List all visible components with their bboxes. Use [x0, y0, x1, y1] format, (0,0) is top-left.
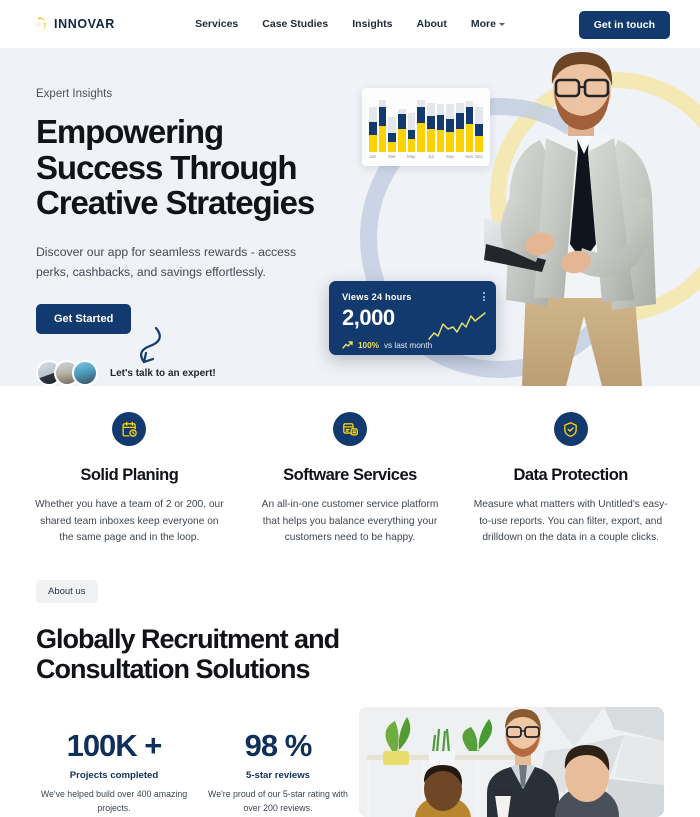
brand-name: INNOVAR — [54, 17, 115, 31]
nav-link-about-label: About — [417, 18, 447, 30]
bar-column — [379, 94, 387, 152]
expert-row: Let's talk to an expert! — [36, 360, 216, 386]
hero-copy: Expert Insights Empowering Success Throu… — [36, 88, 366, 334]
bar-segment — [456, 129, 464, 152]
nav-link-case-studies[interactable]: Case Studies — [262, 18, 328, 30]
bar-column — [417, 94, 425, 152]
trend-up-icon — [342, 336, 353, 354]
bar-segment — [446, 132, 454, 152]
bar-segment — [398, 114, 406, 129]
views-stat-card: Views 24 hours 2,000 100% vs last month — [329, 281, 496, 355]
innovar-swirl-logo-icon — [30, 16, 47, 33]
feature-card-software-services: Software Services An all-in-one customer… — [243, 412, 458, 566]
sparkline-chart — [428, 311, 486, 346]
feature-card-solid-planing: Solid Planing Whether you have a team of… — [22, 412, 237, 566]
bar-segment — [379, 100, 387, 107]
bar-chart-tick-label — [456, 154, 464, 159]
about-title-line2: Consultation Solutions — [36, 654, 309, 684]
bar-chart-tick-label: Dec — [475, 154, 483, 159]
bar-segment — [379, 126, 387, 152]
bar-column — [398, 94, 406, 152]
bar-chart-tick-label — [379, 154, 387, 159]
stat-description: We've helped build over 400 amazing proj… — [36, 788, 192, 815]
stat-description: We're proud of our 5-star rating with ov… — [200, 788, 356, 815]
bar-segment — [475, 107, 483, 124]
bar-chart-tick-label: Nov — [465, 154, 473, 159]
about-us-chip: About us — [36, 580, 98, 603]
bar-column — [456, 94, 464, 152]
hero-title-line2: Success Through — [36, 149, 296, 186]
bar-segment — [427, 116, 435, 129]
hero-title-line1: Empowering — [36, 113, 223, 150]
bar-column — [437, 94, 445, 152]
bar-segment — [388, 133, 396, 141]
bar-segment — [466, 107, 474, 124]
team-office-photo — [359, 707, 664, 817]
stat-number: 100K + — [36, 728, 192, 764]
bar-segment — [408, 130, 416, 139]
bar-segment — [379, 107, 387, 126]
get-in-touch-button[interactable]: Get in touch — [579, 11, 670, 39]
bar-chart-tick-label — [417, 154, 425, 159]
bar-segment — [417, 107, 425, 123]
nav-link-insights-label: Insights — [352, 18, 392, 30]
feature-title: Solid Planing — [32, 466, 227, 485]
bar-segment — [437, 104, 445, 116]
stat-label: Projects completed — [36, 770, 192, 781]
stats-section: 100K + Projects completed We've helped b… — [36, 728, 356, 815]
bar-column — [466, 94, 474, 152]
stat-label: 5-star reviews — [200, 770, 356, 781]
bar-chart-tick-label: Jan — [369, 154, 377, 159]
hero-section: Expert Insights Empowering Success Throu… — [0, 48, 700, 386]
nav-link-services-label: Services — [195, 18, 238, 30]
bar-chart-plot — [367, 94, 485, 152]
bar-segment — [475, 124, 483, 136]
feature-description: Measure what matters with Untitled's eas… — [473, 497, 668, 547]
bar-column — [427, 94, 435, 152]
bar-column — [475, 94, 483, 152]
shield-check-icon — [554, 412, 588, 446]
hero-businessman-photo — [484, 48, 684, 386]
kebab-menu-icon[interactable] — [483, 292, 485, 301]
bar-segment — [369, 135, 377, 152]
feature-title: Software Services — [253, 466, 448, 485]
bar-segment — [417, 100, 425, 107]
nav-link-more[interactable]: More — [471, 18, 505, 30]
bar-segment — [369, 107, 377, 122]
bar-segment — [408, 113, 416, 130]
nav-link-more-label: More — [471, 18, 496, 30]
features-section: Solid Planing Whether you have a team of… — [0, 386, 700, 566]
hero-bar-chart-card: JanMarMayJulSepNovDec — [362, 88, 490, 166]
bar-column — [388, 94, 396, 152]
bar-segment — [456, 103, 464, 112]
about-title: Globally Recruitment and Consultation So… — [36, 624, 666, 684]
feature-description: An all-in-one customer service platform … — [253, 497, 448, 547]
brand-logo[interactable]: INNOVAR — [30, 16, 115, 33]
about-section: About us Globally Recruitment and Consul… — [36, 580, 666, 684]
bar-segment — [408, 139, 416, 152]
bar-segment — [388, 142, 396, 152]
bar-segment — [427, 103, 435, 116]
bar-segment — [417, 123, 425, 152]
landing-page: INNOVAR Services Case Studies Insights A… — [0, 0, 700, 817]
bar-segment — [427, 129, 435, 152]
views-card-change: 100% — [358, 341, 379, 350]
views-card-change-note: vs last month — [384, 341, 432, 350]
bar-segment — [388, 117, 396, 133]
bar-chart-tick-label: Jul — [427, 154, 435, 159]
bar-chart-tick-label: Mar — [388, 154, 396, 159]
chevron-down-icon — [499, 23, 505, 26]
bar-column — [446, 94, 454, 152]
bar-segment — [446, 104, 454, 119]
nav-link-case-studies-label: Case Studies — [262, 18, 328, 30]
bar-column — [369, 94, 377, 152]
stat-projects-completed: 100K + Projects completed We've helped b… — [36, 728, 192, 815]
bar-chart-tick-label: May — [407, 154, 415, 159]
bar-segment — [398, 129, 406, 152]
bar-segment — [446, 119, 454, 132]
bar-segment — [466, 124, 474, 152]
bar-segment — [369, 122, 377, 135]
hero-subtitle: Discover our app for seamless rewards - … — [36, 243, 321, 283]
calendar-clock-icon — [112, 412, 146, 446]
get-started-button[interactable]: Get Started — [36, 304, 131, 334]
bar-chart-tick-label — [437, 154, 445, 159]
feature-card-data-protection: Data Protection Measure what matters wit… — [463, 412, 678, 566]
avatar[interactable] — [72, 360, 98, 386]
bar-chart-tick-label — [398, 154, 406, 159]
bar-chart-tick-label: Sep — [446, 154, 454, 159]
feature-description: Whether you have a team of 2 or 200, our… — [32, 497, 227, 547]
stat-five-star-reviews: 98 % 5-star reviews We're proud of our 5… — [200, 728, 356, 815]
bar-segment — [437, 130, 445, 152]
top-navbar: INNOVAR Services Case Studies Insights A… — [0, 0, 700, 48]
talk-to-expert-label: Let's talk to an expert! — [110, 368, 216, 379]
avatar-group — [36, 360, 98, 386]
bar-segment — [437, 115, 445, 130]
feature-title: Data Protection — [473, 466, 668, 485]
nav-link-about[interactable]: About — [417, 18, 447, 30]
bar-chart-x-axis: JanMarMayJulSepNovDec — [367, 152, 485, 159]
page-title: Empowering Success Through Creative Stra… — [36, 114, 366, 221]
bar-segment — [456, 113, 464, 129]
hero-eyebrow: Expert Insights — [36, 88, 366, 100]
nav-link-services[interactable]: Services — [195, 18, 238, 30]
bar-column — [408, 94, 416, 152]
nav-link-insights[interactable]: Insights — [352, 18, 392, 30]
software-window-icon — [333, 412, 367, 446]
hero-title-line3: Creative Strategies — [36, 184, 314, 221]
stat-number: 98 % — [200, 728, 356, 764]
views-card-title: Views 24 hours — [342, 292, 483, 302]
bar-segment — [475, 136, 483, 152]
about-title-line1: Globally Recruitment and — [36, 624, 339, 654]
